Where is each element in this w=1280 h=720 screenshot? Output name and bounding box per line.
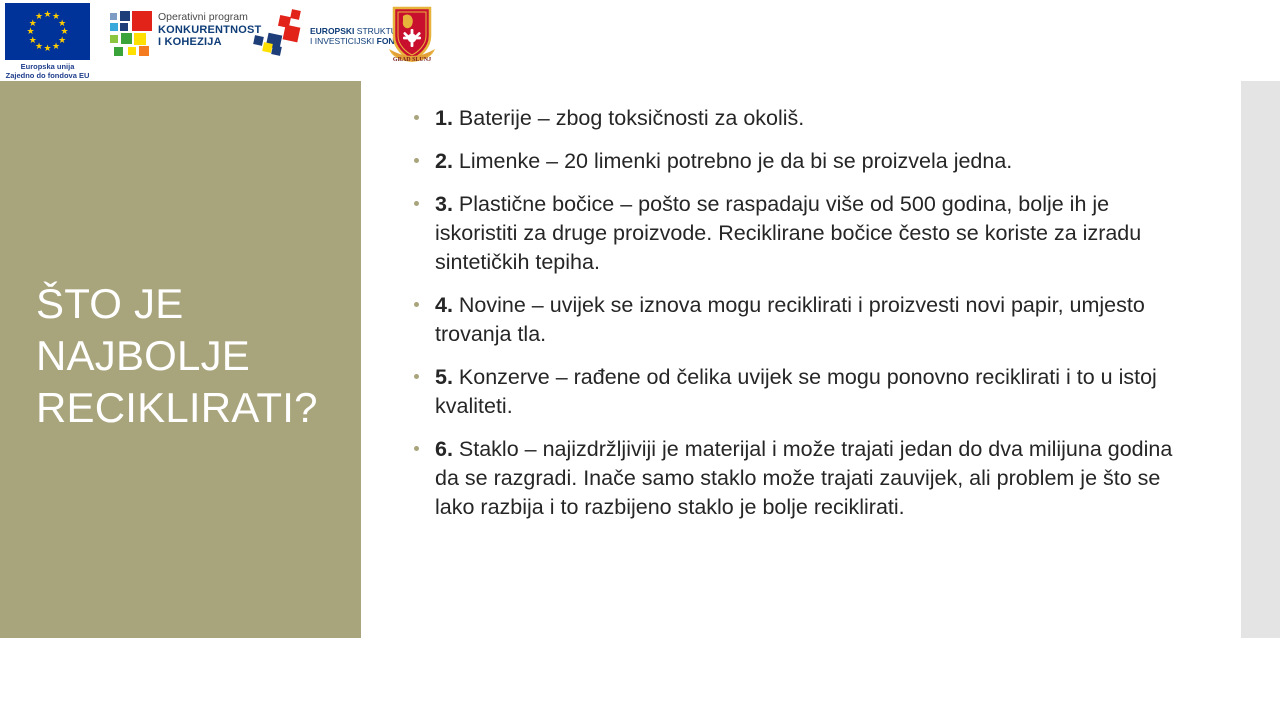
bullet-dot-icon (414, 158, 419, 163)
bullet-dot-icon (414, 374, 419, 379)
list-item-number: 4. (435, 293, 459, 317)
esi-line2-rest: I INVESTICIJSKI (310, 36, 374, 46)
bullet-dot-icon (414, 201, 419, 206)
esi-squares-icon (250, 10, 310, 60)
op-logo-line1: Operativni program (158, 12, 261, 24)
op-logo-line3: I KOHEZIJA (158, 36, 261, 48)
right-gray-band (1241, 81, 1280, 638)
logo-band: ★★★★★★★★★★★★ Europska unija Zajedno do f… (0, 0, 1280, 80)
bullet-list: 1. Baterije – zbog toksičnosti za okoliš… (410, 104, 1185, 536)
bullet-dot-icon (414, 115, 419, 120)
list-item-text: Limenke – 20 limenki potrebno je da bi s… (459, 149, 1012, 173)
list-item-text: Konzerve – rađene od čelika uvijek se mo… (435, 365, 1157, 418)
esi-line1-bold: EUROPSKI (310, 26, 354, 36)
eu-logo-caption: Europska unija Zajedno do fondova EU (5, 62, 90, 80)
grad-slunj-coat-of-arms-icon: GRAD SLUNJ (386, 4, 438, 66)
eu-star-icon: ★ (43, 44, 52, 53)
bullet-dot-icon (414, 446, 419, 451)
list-item-number: 5. (435, 365, 459, 389)
list-item-number: 6. (435, 437, 459, 461)
list-item-text: Baterije – zbog toksičnosti za okoliš. (459, 106, 804, 130)
op-logo-line2: KONKURENTNOST (158, 24, 261, 36)
slide-canvas: ★★★★★★★★★★★★ Europska unija Zajedno do f… (0, 0, 1280, 720)
eu-caption-line2: Zajedno do fondova EU (5, 71, 90, 80)
eu-flag-logo: ★★★★★★★★★★★★ Europska unija Zajedno do f… (5, 3, 90, 80)
list-item: 6. Staklo – najizdržljiviji je materijal… (410, 435, 1185, 522)
op-squares-icon (108, 11, 154, 57)
list-item-number: 1. (435, 106, 459, 130)
list-item-number: 2. (435, 149, 459, 173)
list-item-text: Plastične bočice – pošto se raspadaju vi… (435, 192, 1141, 274)
op-logo-text: Operativni program KONKURENTNOST I KOHEZ… (158, 12, 261, 48)
eu-caption-line1: Europska unija (5, 62, 90, 71)
eu-flag-icon: ★★★★★★★★★★★★ (5, 3, 90, 60)
bullet-dot-icon (414, 302, 419, 307)
title-panel: ŠTO JE NAJBOLJE RECIKLIRATI? (0, 81, 361, 638)
list-item-text: Staklo – najizdržljiviji je materijal i … (435, 437, 1172, 519)
page-title: ŠTO JE NAJBOLJE RECIKLIRATI? (36, 278, 346, 434)
esi-fondovi-logo: EUROPSKI STRUKTURNI I INVESTICIJSKI FOND… (250, 10, 390, 62)
list-item-number: 3. (435, 192, 459, 216)
list-item: 4. Novine – uvijek se iznova mogu recikl… (410, 291, 1185, 349)
list-item: 1. Baterije – zbog toksičnosti za okoliš… (410, 104, 1185, 133)
eu-star-icon: ★ (26, 27, 35, 36)
eu-star-icon: ★ (28, 36, 37, 45)
eu-star-icon: ★ (52, 42, 61, 51)
list-item: 2. Limenke – 20 limenki potrebno je da b… (410, 147, 1185, 176)
list-item-text: Novine – uvijek se iznova mogu reciklira… (435, 293, 1145, 346)
list-item: 3. Plastične bočice – pošto se raspadaju… (410, 190, 1185, 277)
eu-star-icon: ★ (35, 12, 44, 21)
list-item: 5. Konzerve – rađene od čelika uvijek se… (410, 363, 1185, 421)
coat-of-arms-motto: GRAD SLUNJ (393, 57, 431, 63)
